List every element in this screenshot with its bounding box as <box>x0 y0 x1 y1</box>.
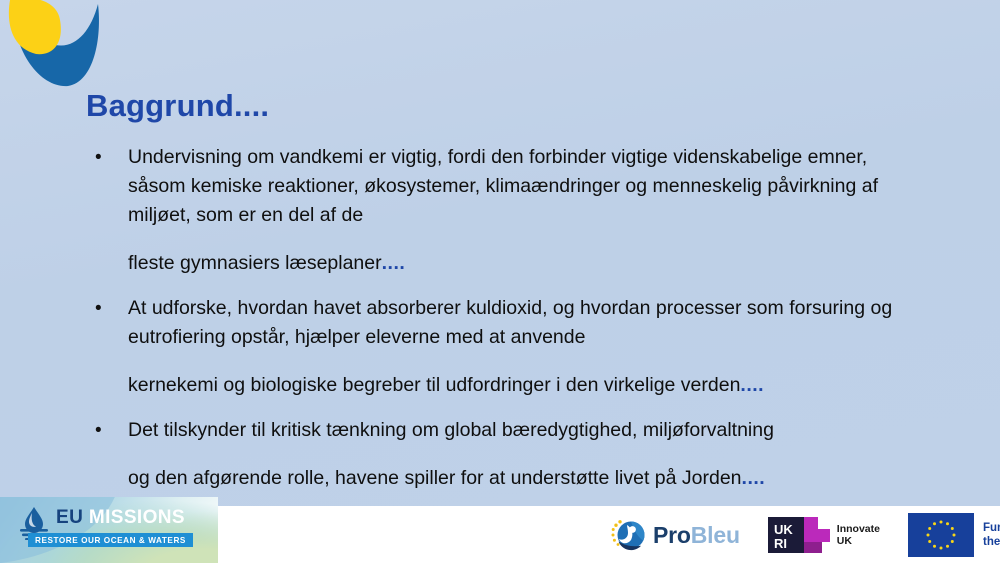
svg-text:UK: UK <box>774 522 793 537</box>
eu-flag-icon <box>908 513 974 557</box>
bullet-tail-text: fleste gymnasiers læseplaner <box>128 252 382 274</box>
eu-missions-missions-text: MISSIONS <box>83 507 185 528</box>
bullet-text: Undervisning om vandkemi er vigtig, ford… <box>128 143 922 278</box>
footer-logo-cluster: ProBleu UK RI InnovateUK <box>610 512 1000 558</box>
slide: Baggrund.... • Undervisning om vandkemi … <box>0 0 1000 563</box>
bullet-tail-line: og den afgørende rolle, havene spiller f… <box>128 464 922 493</box>
innovate-uk-line2: UK <box>837 535 852 547</box>
eu-missions-wordmark: EU MISSIONS <box>56 507 185 529</box>
bullet-tail-text: og den afgørende rolle, havene spiller f… <box>128 467 742 489</box>
probleu-pro-text: Pro <box>653 522 691 548</box>
eu-missions-tagline: RESTORE OUR OCEAN & WATERS <box>28 533 193 547</box>
bullet-text: Det tilskynder til kritisk tænkning om g… <box>128 416 922 493</box>
innovate-uk-label: InnovateUK <box>837 523 880 548</box>
bullet-marker: • <box>92 416 128 445</box>
brand-mark-logo <box>2 0 108 98</box>
eu-missions-logo: EU MISSIONS RESTORE OUR OCEAN & WATERS <box>0 497 218 563</box>
list-item: • Det tilskynder til kritisk tænkning om… <box>92 416 922 493</box>
ukri-innovate-uk-logo: UK RI InnovateUK <box>768 517 880 553</box>
probleu-bleu-text: Bleu <box>691 522 740 548</box>
probleu-logo: ProBleu <box>610 517 740 553</box>
ukri-badge-icon: UK RI <box>768 517 830 553</box>
bullet-main-text: Det tilskynder til kritisk tænkning om g… <box>128 419 774 441</box>
bullet-trailing-dots: .... <box>742 467 766 489</box>
probleu-globe-icon <box>610 517 646 553</box>
bullet-trailing-dots: .... <box>382 252 406 274</box>
bullet-trailing-dots: .... <box>740 374 764 396</box>
list-item: • Undervisning om vandkemi er vigtig, fo… <box>92 143 922 278</box>
bullet-marker: • <box>92 143 128 172</box>
page-title: Baggrund.... <box>86 88 269 124</box>
eu-funding-logo: Funded bythe European Union <box>908 513 1000 557</box>
bullet-tail-line: kernekemi og biologiske begreber til udf… <box>128 371 922 400</box>
list-item: • At udforske, hvordan havet absorberer … <box>92 294 922 400</box>
eu-funding-line2: the European Union <box>983 536 1000 548</box>
bullet-list: • Undervisning om vandkemi er vigtig, fo… <box>92 143 922 493</box>
bullet-tail-line: fleste gymnasiers læseplaner.... <box>128 249 922 278</box>
eu-missions-eu-text: EU <box>56 507 83 528</box>
eu-funding-line1: Funded by <box>983 522 1000 534</box>
bullet-main-text: Undervisning om vandkemi er vigtig, ford… <box>128 146 878 226</box>
svg-text:RI: RI <box>774 536 787 551</box>
bullet-main-text: At udforske, hvordan havet absorberer ku… <box>128 297 892 348</box>
bullet-marker: • <box>92 294 128 323</box>
bullet-tail-text: kernekemi og biologiske begreber til udf… <box>128 374 740 396</box>
eu-funding-label: Funded bythe European Union <box>983 521 1000 549</box>
bullet-text: At udforske, hvordan havet absorberer ku… <box>128 294 922 400</box>
innovate-uk-line1: Innovate <box>837 523 880 535</box>
probleu-wordmark: ProBleu <box>653 522 740 549</box>
